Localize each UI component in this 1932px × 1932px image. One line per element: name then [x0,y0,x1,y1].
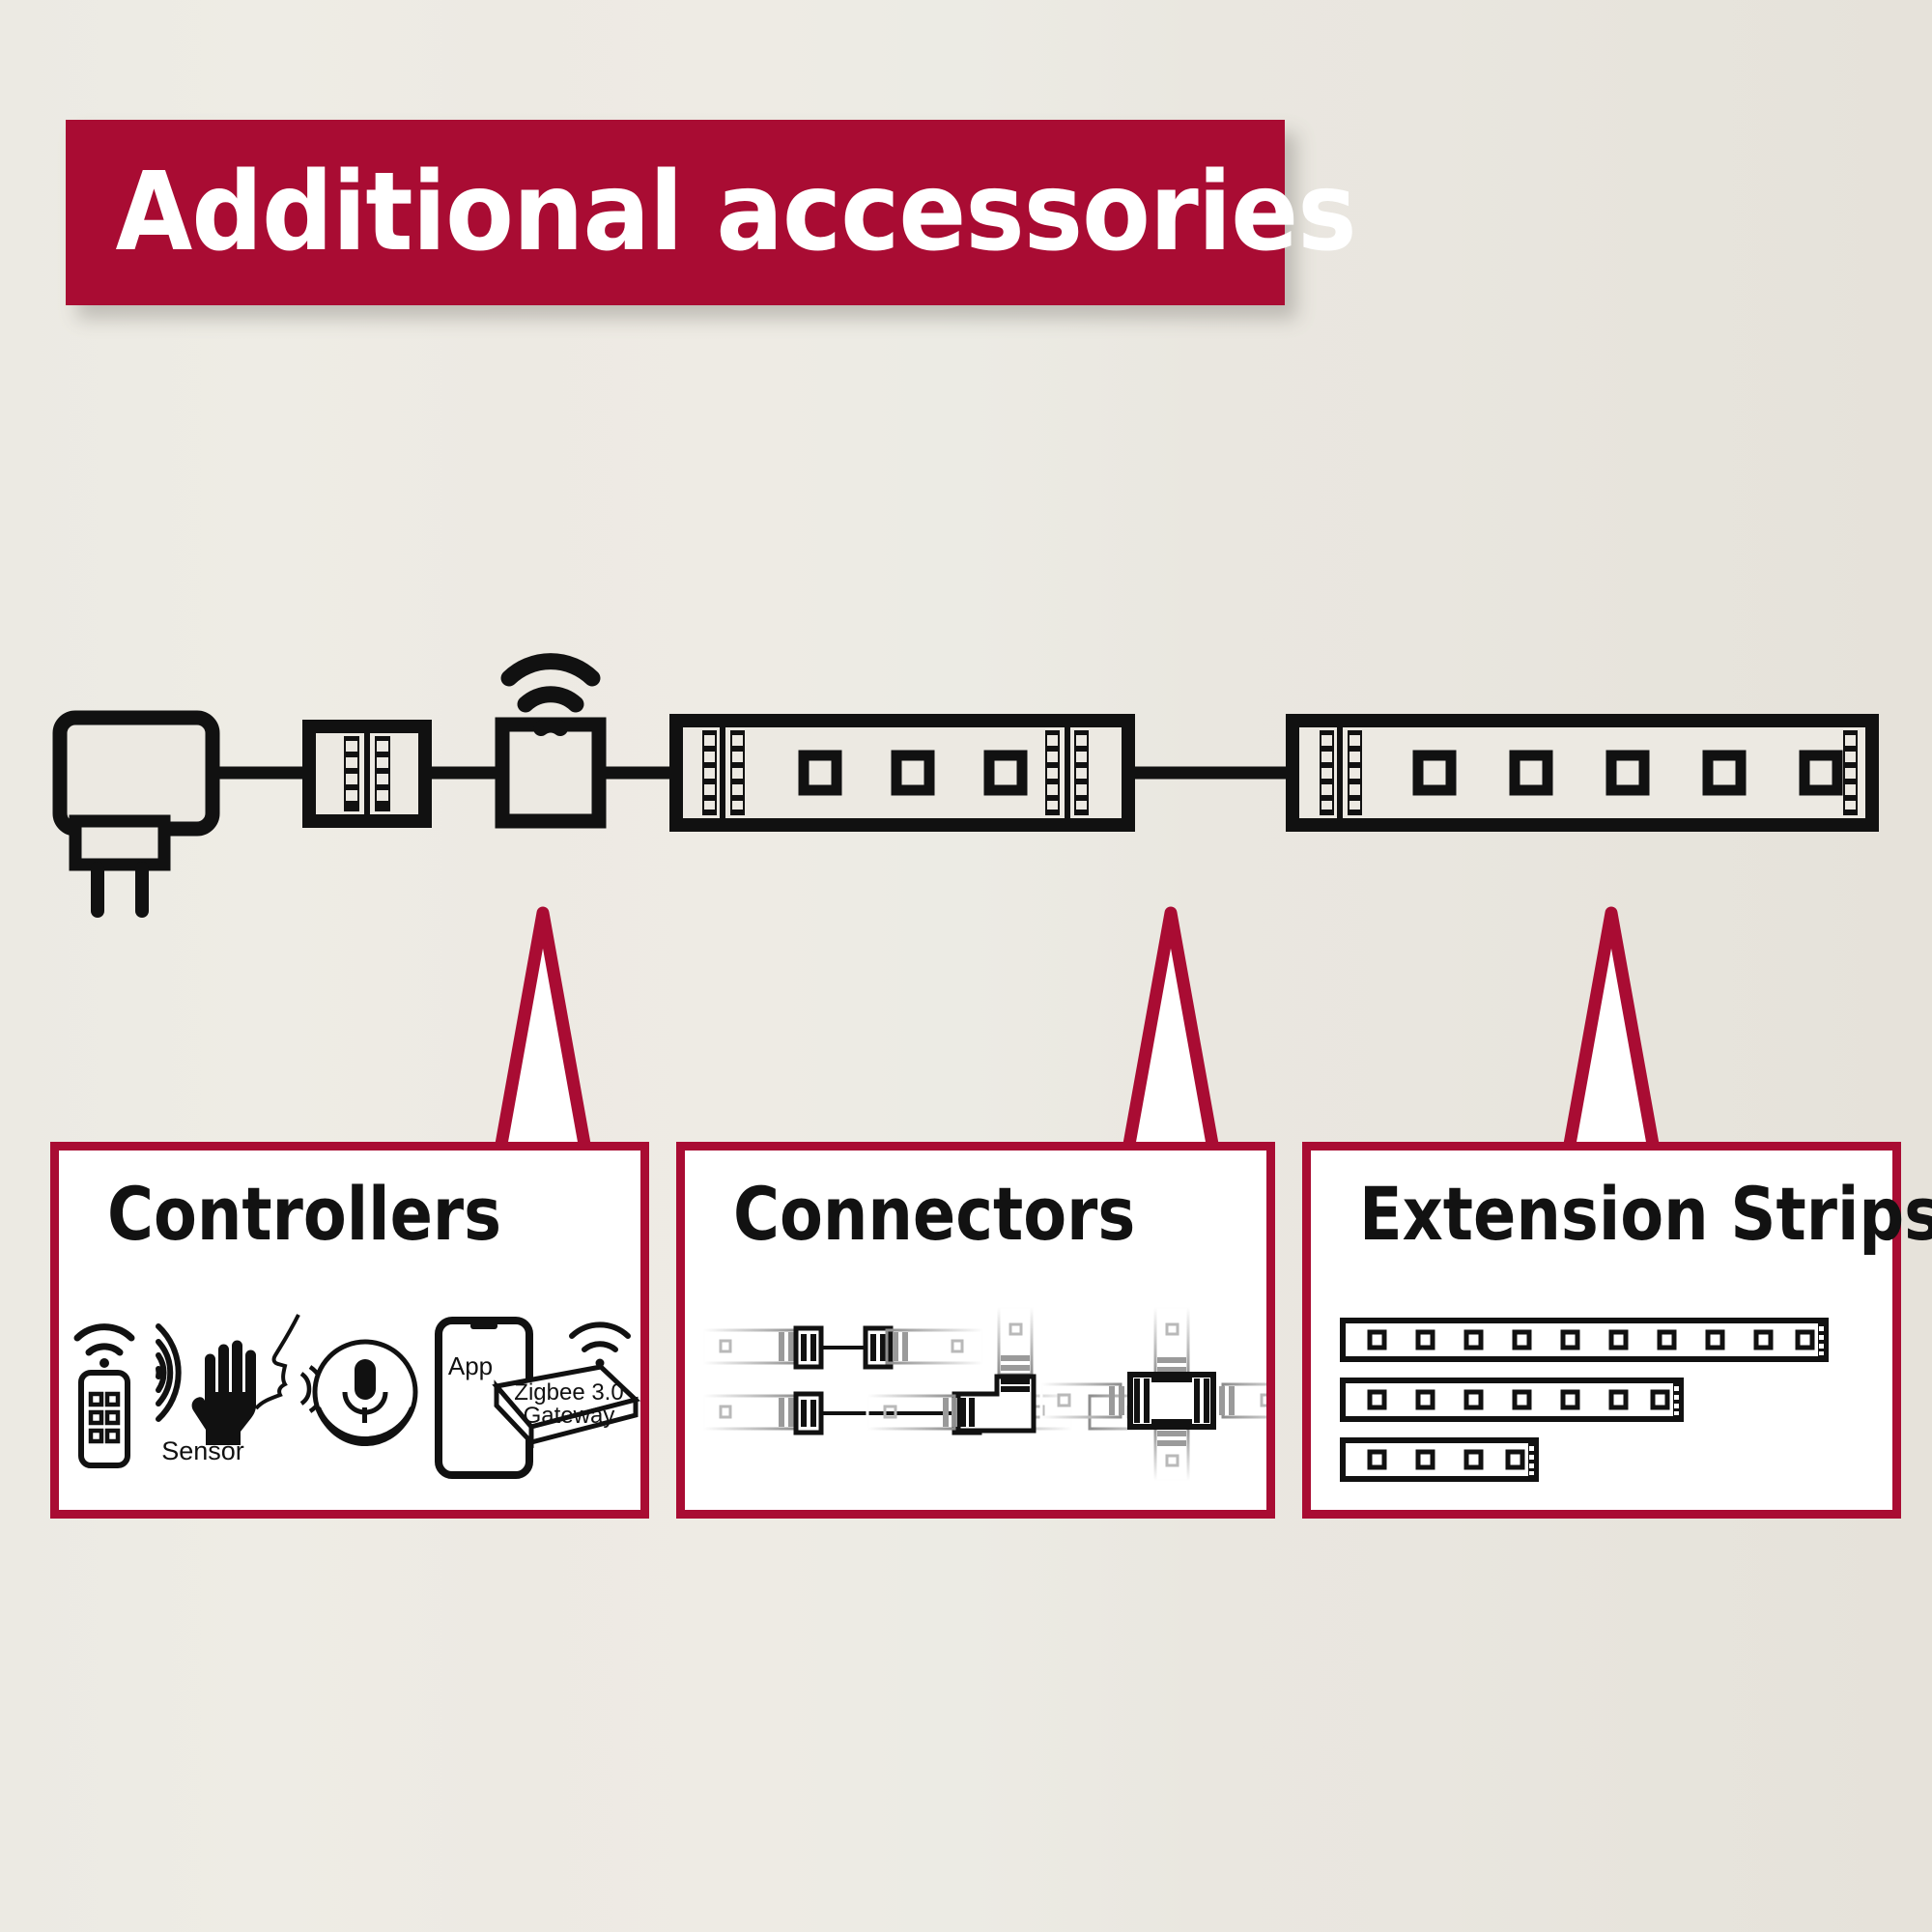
strip-connector-icon [309,726,425,821]
category-title-controllers: Controllers [107,1176,501,1253]
long-cable-connector-icon [703,1394,1167,1433]
motion-sensor-icon [158,1326,256,1445]
category-box-extensions[interactable]: Extension Strips [1302,1142,1901,1519]
led-strip-short-icon [676,721,1128,825]
extension-strip-short-icon [1343,1440,1536,1479]
remote-control-icon [77,1327,131,1465]
led-system-chain [0,618,1932,947]
category-box-connectors[interactable]: Connectors [676,1142,1275,1519]
category-box-controllers[interactable]: Controllers [50,1142,649,1519]
title-banner: Additional accessories [66,120,1285,305]
controllers-art: Sensor App [59,1299,640,1483]
gateway-label-line1: Zigbee 3.0 [514,1379,623,1406]
extension-strip-long-icon [1343,1321,1826,1359]
category-title-connectors: Connectors [733,1176,1135,1253]
connectors-art [685,1299,1266,1483]
gateway-label-line2: Gateway [524,1403,615,1429]
gateway-wifi-dot [596,1359,605,1368]
led-strip-long-icon [1293,721,1872,825]
poster-canvas: Additional accessories [0,0,1932,1932]
app-label: App [448,1351,493,1380]
sensor-label: Sensor [161,1436,244,1465]
voice-assistant-icon [256,1315,415,1444]
short-cable-connector-icon [703,1328,983,1367]
pointer-to-controllers [500,913,585,1150]
power-supply-icon [60,718,213,918]
cross-connector-icon [1041,1307,1266,1481]
page-title: Additional accessories [66,158,1356,267]
extension-strip-medium-icon [1343,1380,1681,1419]
pointer-to-extensions [1569,913,1654,1150]
category-title-extensions: Extension Strips [1359,1176,1932,1253]
extension-strips-art [1311,1299,1892,1483]
pointer-to-connectors [1128,913,1213,1150]
controller-box-icon [502,724,599,821]
hand-icon [192,1341,256,1446]
gateway-wifi-icon [572,1324,628,1350]
